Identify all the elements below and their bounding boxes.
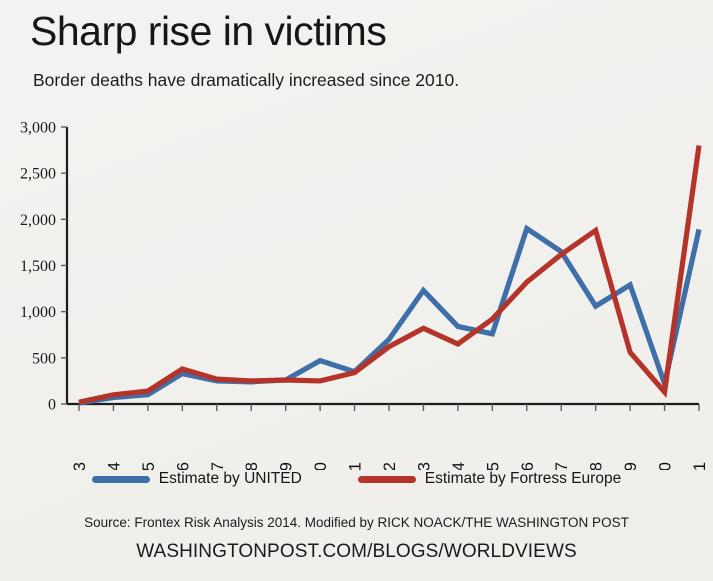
source-note: Source: Frontex Risk Analysis 2014. Modi… [0, 515, 713, 530]
x-tick-label: 2003 [415, 462, 433, 470]
y-tick-label: 2,000 [20, 212, 56, 229]
x-tick-label: 2005 [484, 462, 502, 470]
x-tick-label: 2001 [347, 462, 365, 470]
y-tick-label: 3,000 [20, 120, 56, 137]
x-tick-label: 2010 [657, 462, 675, 470]
legend-swatch-icon [358, 476, 416, 483]
legend-swatch-icon [92, 476, 150, 483]
y-tick-label: 2,500 [20, 166, 56, 183]
x-tick-label: 2006 [519, 462, 537, 470]
x-tick-label: 2008 [588, 462, 606, 470]
x-tick-label: 2002 [381, 462, 399, 470]
y-tick-label: 0 [48, 397, 56, 414]
x-tick-label: 2011 [691, 462, 709, 470]
x-tick-label: 1996 [174, 462, 192, 470]
x-tick-label: 2000 [312, 462, 330, 470]
infographic-canvas: Sharp rise in victims Border deaths have… [0, 0, 713, 581]
x-tick-label: 1997 [209, 462, 227, 470]
x-tick-label: 1994 [105, 462, 123, 470]
legend-label: Estimate by Fortress Europe [425, 470, 621, 488]
legend-label: Estimate by UNITED [159, 470, 302, 488]
x-tick-label: 1999 [278, 462, 296, 470]
x-tick-label: 1998 [243, 462, 261, 470]
x-tick-label: 1995 [140, 462, 158, 470]
y-tick-label: 500 [32, 350, 56, 367]
legend-item-fortress-europe[interactable]: Estimate by Fortress Europe [358, 470, 621, 488]
legend-item-united[interactable]: Estimate by UNITED [92, 470, 302, 488]
x-tick-label: 2004 [450, 462, 468, 470]
series-line-fortress-europe [79, 145, 699, 402]
y-tick-label: 1,500 [20, 258, 56, 275]
chart-legend: Estimate by UNITEDEstimate by Fortress E… [0, 470, 713, 488]
x-tick-label: 1993 [71, 462, 89, 470]
x-tick-label: 2007 [553, 462, 571, 470]
y-tick-label: 1,000 [20, 304, 56, 321]
line-chart: 05001,0001,5002,0002,5003,00019931994199… [0, 0, 713, 470]
publisher-credit: WASHINGTONPOST.COM/BLOGS/WORLDVIEWS [0, 541, 713, 563]
x-tick-label: 2009 [622, 462, 640, 470]
